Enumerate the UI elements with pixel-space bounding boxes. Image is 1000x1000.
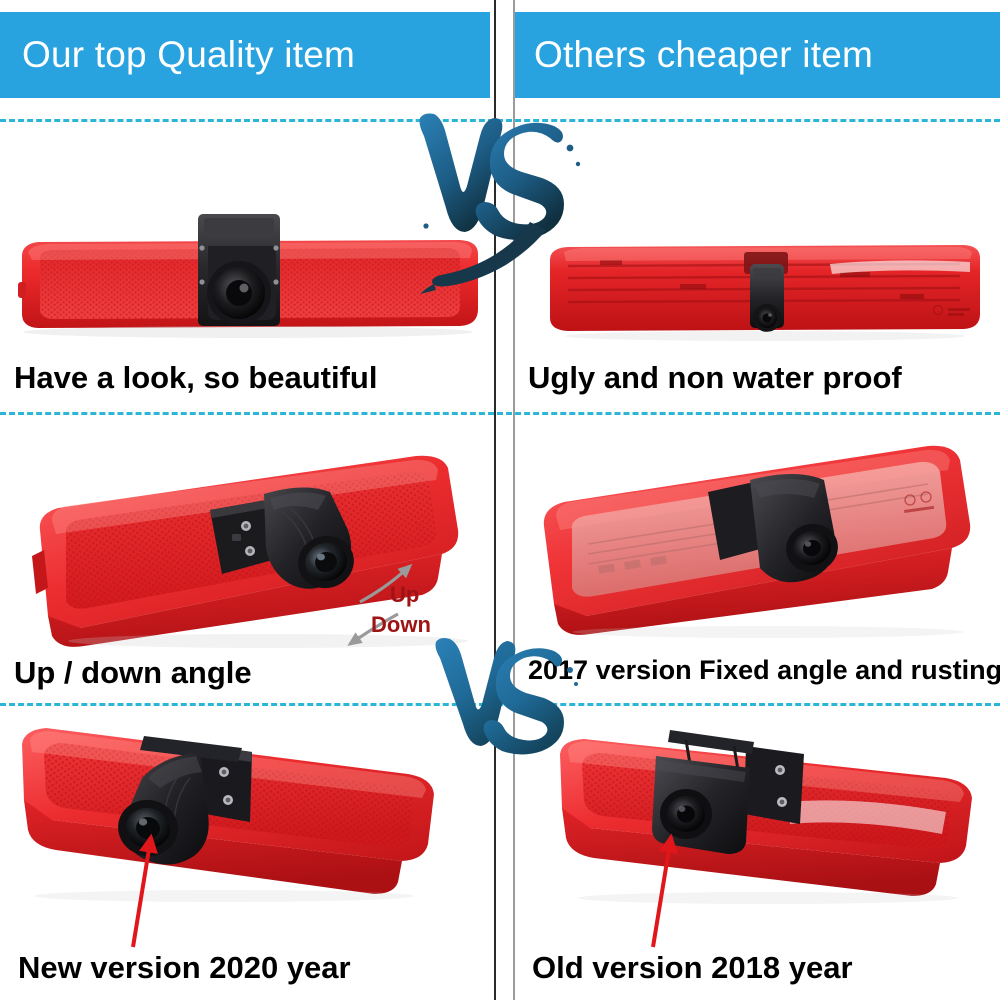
product-photo-row1-left: [8, 196, 488, 346]
comparison-infographic: Our top Quality item Others cheaper item: [0, 0, 1000, 1000]
annotation-down-label: Down: [371, 612, 431, 638]
caption-row2-right: 2017 version Fixed angle and rusting: [528, 655, 1000, 686]
header-bar-right: Others cheaper item: [514, 12, 1000, 98]
caption-row3-right: Old version 2018 year: [532, 950, 853, 986]
caption-row2-left: Up / down angle: [14, 655, 252, 691]
caption-row1-right: Ugly and non water proof: [528, 360, 902, 396]
header-title-right: Others cheaper item: [534, 34, 873, 76]
caption-row1-left: Have a look, so beautiful: [14, 360, 377, 396]
divider-dashed-3: [0, 703, 1000, 706]
divider-vertical-light: [513, 0, 515, 1000]
product-photo-row1-right: [540, 228, 990, 348]
header-bar-left: Our top Quality item: [0, 12, 490, 98]
divider-vertical-dark: [494, 0, 496, 1000]
product-photo-row2-right: [528, 436, 990, 646]
annotation-up-label: Up: [390, 582, 419, 608]
divider-dashed-1: [0, 119, 1000, 122]
caption-row3-left: New version 2020 year: [18, 950, 351, 986]
divider-dashed-2: [0, 412, 1000, 415]
product-photo-row3-right: [538, 720, 998, 910]
product-photo-row3-left: [4, 716, 474, 906]
header-title-left: Our top Quality item: [22, 34, 355, 76]
